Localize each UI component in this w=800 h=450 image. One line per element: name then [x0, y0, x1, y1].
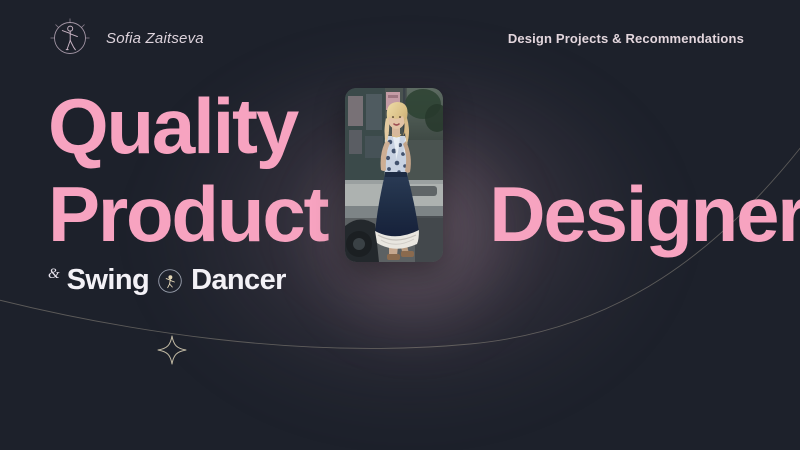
ampersand: & — [48, 266, 60, 283]
four-point-sparkle-icon — [155, 333, 189, 367]
headline-word-product: Product — [48, 176, 327, 252]
brand-block[interactable]: Sofia Zaitseva — [48, 16, 204, 60]
header-bar: Sofia Zaitseva Design Projects & Recomme… — [0, 0, 800, 76]
portrait-photo-image — [345, 88, 443, 262]
headline-word-quality: Quality — [48, 88, 297, 164]
headline-word-designer: Designer — [489, 176, 800, 252]
slide-canvas: Sofia Zaitseva Design Projects & Recomme… — [0, 0, 800, 450]
subheadline-word-dancer: Dancer — [191, 264, 286, 297]
dancer-badge-icon — [157, 268, 183, 294]
subheadline-word-swing: Swing — [67, 264, 149, 297]
header-tagline: Design Projects & Recommendations — [508, 31, 744, 46]
subheadline-block: & Swing Dancer — [48, 264, 286, 297]
brand-name: Sofia Zaitseva — [106, 30, 204, 47]
portrait-photo[interactable] — [345, 88, 443, 262]
dancer-in-circle-logo — [48, 16, 92, 60]
